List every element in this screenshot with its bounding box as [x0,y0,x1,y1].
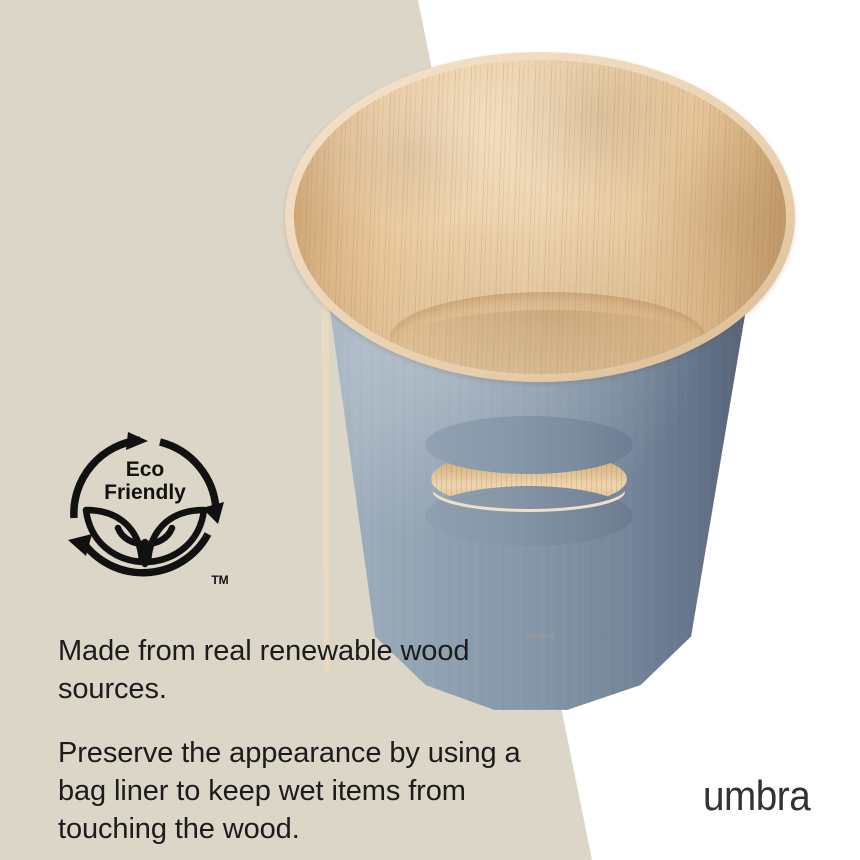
eco-badge-line2: Friendly [104,481,186,504]
bin-handle-cutout [431,450,627,508]
eco-arrowhead-top [126,432,148,450]
eco-friendly-badge: Eco Friendly TM [56,414,236,598]
bin-rim [285,52,795,382]
product-marketing-image: umbra [0,0,860,860]
copy-paragraph-2: Preserve the appearance by using a bag l… [58,734,528,848]
handle-upper-mask [425,416,633,474]
copy-paragraph-1: Made from real renewable wood sources. [58,632,528,708]
eco-badge-line1: Eco [126,458,165,481]
interior-base-ellipse [390,292,706,374]
umbra-wordmark: umbra [703,775,810,817]
eco-badge-trademark: TM [211,573,228,587]
bin-wood-interior [294,60,786,374]
handle-cream-lip [433,472,625,512]
interior-front-shadow [354,310,744,374]
product-image-wooden-waste-can: umbra [285,52,795,662]
marketing-copy: Made from real renewable wood sources. P… [58,632,528,848]
